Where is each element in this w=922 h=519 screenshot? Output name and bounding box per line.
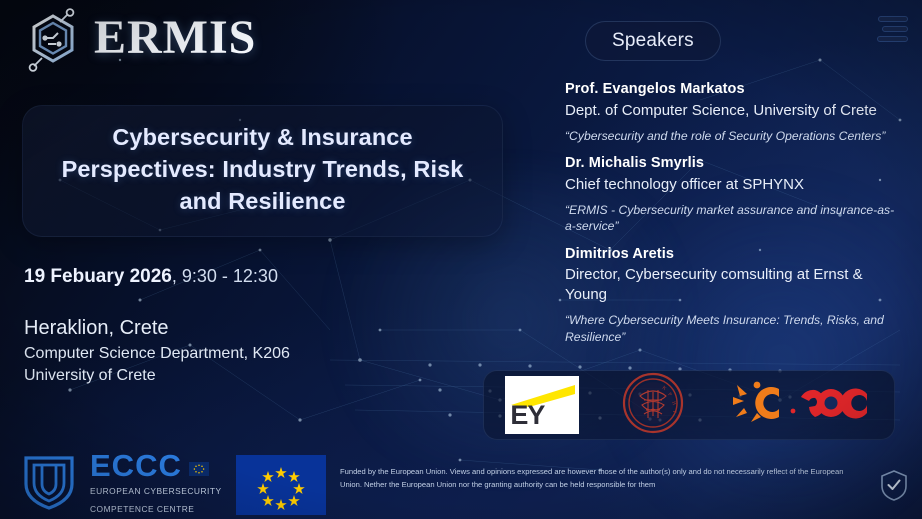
speaker-name: Dimitrios Aretis [565, 244, 895, 265]
speaker-name: Prof. Evangelos Markatos [565, 79, 895, 100]
eccc-acronym: ECCC [90, 450, 182, 481]
shield-check-icon [880, 469, 908, 501]
menu-bar-3 [877, 36, 908, 42]
european-union-flag-icon [236, 455, 326, 515]
speaker-role: Director, Cybersecurity comsulting at Er… [565, 265, 895, 305]
list-item: Dr. Michalis Smyrlis Chief technology of… [565, 153, 895, 235]
eu-mini-flag-icon [189, 450, 209, 481]
eccc-shield-icon [18, 450, 80, 517]
brand-header: ERMIS [22, 6, 256, 74]
venue-city: Heraklion, Crete [24, 315, 290, 343]
speaker-list: Prof. Evangelos Markatos Dept. of Comput… [565, 79, 895, 354]
event-poster: ERMIS Cybersecurity & Insurance Perspect… [0, 0, 922, 519]
menu-bar-2 [882, 26, 908, 32]
eccc-subtitle-line-1: EUROPEAN CYBERSECURITY [90, 486, 222, 496]
ey-logo-label: EY [510, 400, 544, 431]
partner-logos-panel: EY Κ Ρ Η [483, 370, 895, 440]
event-venue: Heraklion, Crete Computer Science Depart… [24, 315, 290, 388]
speaker-name: Dr. Michalis Smyrlis [565, 153, 895, 174]
speaker-talk-title: “Where Cybersecurity Meets Insurance: Tr… [565, 312, 895, 345]
event-date: 19 Febuary 2026 [24, 266, 172, 287]
speaker-talk-title: “Cybersecurity and the role of Security … [565, 128, 895, 145]
venue-university: University of Crete [24, 365, 290, 388]
event-datetime: 19 Febuary 2026, 9:30 - 12:30 [24, 266, 278, 288]
list-item: Prof. Evangelos Markatos Dept. of Comput… [565, 79, 895, 144]
hamburger-menu-icon[interactable] [874, 16, 908, 42]
ey-logo: EY [505, 376, 579, 434]
eccc-subtitle-line-2: COMPETENCE CENTRE [90, 504, 194, 514]
event-time: , 9:30 - 12:30 [172, 266, 278, 286]
funding-disclaimer: Funded by the European Union. Views and … [340, 466, 860, 491]
speaker-talk-title: “ERMIS - Cybersecurity market assurance … [565, 202, 895, 235]
list-item: Dimitrios Aretis Director, Cybersecurity… [565, 244, 895, 346]
venue-department: Computer Science Department, K206 [24, 343, 290, 366]
speakers-heading-pill: Speakers [585, 21, 721, 61]
menu-bar-1 [878, 16, 908, 22]
speaker-role: Chief technology officer at SPHYNX [565, 175, 895, 195]
event-title-card: Cybersecurity & Insurance Perspectives: … [22, 105, 503, 237]
csoc-logo-icon [727, 377, 873, 434]
svg-text:Τ: Τ [671, 409, 676, 412]
university-of-crete-seal-icon: Κ Ρ Η Τ [622, 372, 684, 439]
ermis-hexagon-logo-icon [22, 6, 84, 74]
page-title: Cybersecurity & Insurance Perspectives: … [45, 122, 480, 218]
speaker-role: Dept. of Computer Science, University of… [565, 101, 895, 121]
eccc-text-block: ECCC EUROPEAN CYBERSECURITY COM [90, 450, 222, 517]
eccc-logo: ECCC EUROPEAN CYBERSECURITY COM [18, 450, 222, 517]
brand-name: ERMIS [94, 14, 256, 66]
